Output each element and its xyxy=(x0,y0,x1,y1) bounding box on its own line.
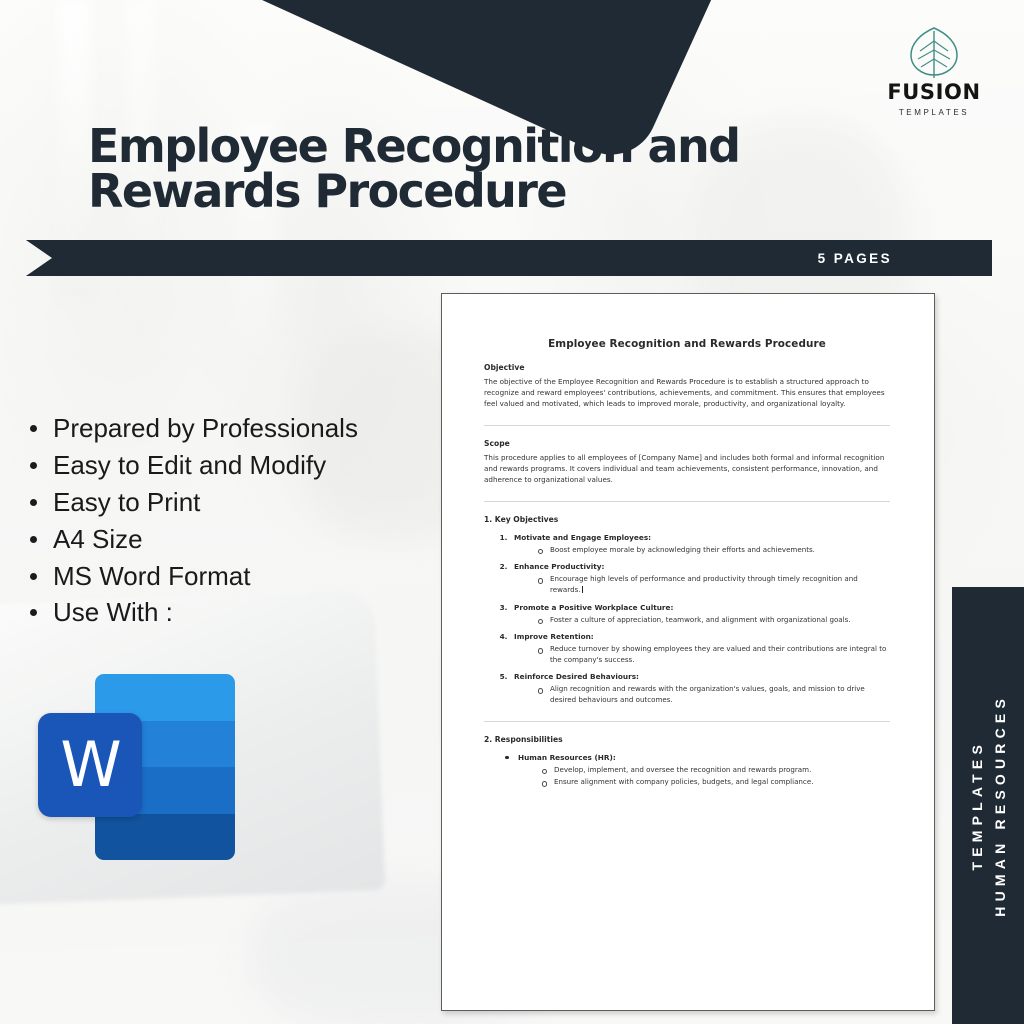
document-sub-list: Foster a culture of appreciation, teamwo… xyxy=(514,615,890,626)
document-paragraph: The objective of the Employee Recognitio… xyxy=(484,377,890,410)
divider xyxy=(484,425,890,426)
document-sub-list: Boost employee morale by acknowledging t… xyxy=(514,545,890,556)
document-section-title: 1. Key Objectives xyxy=(484,515,890,524)
list-item: Prepared by Professionals xyxy=(30,414,440,444)
word-band-4 xyxy=(95,814,235,861)
bullet-icon xyxy=(30,499,37,506)
divider xyxy=(484,501,890,502)
list-item: Reinforce Desired Behaviours: Align reco… xyxy=(510,672,890,705)
feature-label: Use With : xyxy=(53,598,173,628)
list-item: Align recognition and rewards with the o… xyxy=(536,684,890,705)
bullet-icon xyxy=(30,609,37,616)
responsibility-heading: Human Resources (HR): xyxy=(518,753,616,762)
list-item: Reduce turnover by showing employees the… xyxy=(536,644,890,665)
feature-label: A4 Size xyxy=(53,525,143,555)
word-icon-letter: W xyxy=(60,734,119,796)
list-item: Motivate and Engage Employees: Boost emp… xyxy=(510,533,890,556)
list-item: Encourage high levels of performance and… xyxy=(536,574,890,595)
list-item: Foster a culture of appreciation, teamwo… xyxy=(536,615,890,626)
poster-canvas: FUSION TEMPLATES Employee Recognition an… xyxy=(0,0,1024,1024)
document-section-title: 2. Responsibilities xyxy=(484,735,890,744)
list-item: Boost employee morale by acknowledging t… xyxy=(536,545,890,556)
list-item: A4 Size xyxy=(30,525,440,555)
pages-ribbon: 5 PAGES xyxy=(26,240,992,276)
category-line-1: HUMAN RESOURCES xyxy=(992,694,1008,917)
pages-count-label: 5 PAGES xyxy=(818,251,892,266)
bullet-icon xyxy=(30,462,37,469)
list-item: Use With : xyxy=(30,598,440,628)
bullet-icon xyxy=(30,573,37,580)
document-sub-list: Encourage high levels of performance and… xyxy=(514,574,890,595)
list-item: Easy to Print xyxy=(30,488,440,518)
leaf-icon xyxy=(872,24,996,80)
feature-label: MS Word Format xyxy=(53,562,250,592)
bullet-icon xyxy=(30,536,37,543)
objective-heading: Motivate and Engage Employees: xyxy=(514,533,651,542)
list-item: Promote a Positive Workplace Culture: Fo… xyxy=(510,603,890,626)
list-item: Enhance Productivity: Encourage high lev… xyxy=(510,562,890,595)
objective-heading: Reinforce Desired Behaviours: xyxy=(514,672,639,681)
list-item: Easy to Edit and Modify xyxy=(30,451,440,481)
document-bullet-list: Human Resources (HR): Develop, implement… xyxy=(502,753,890,788)
feature-label: Easy to Print xyxy=(53,488,200,518)
category-line-2: TEMPLATES xyxy=(969,740,985,871)
document-sub-list: Align recognition and rewards with the o… xyxy=(514,684,890,705)
list-item: MS Word Format xyxy=(30,562,440,592)
list-item: Improve Retention: Reduce turnover by sh… xyxy=(510,632,890,665)
brand-tagline: TEMPLATES xyxy=(872,108,996,117)
list-item: Ensure alignment with company policies, … xyxy=(540,777,890,788)
document-preview: Employee Recognition and Rewards Procedu… xyxy=(441,293,935,1011)
document-title: Employee Recognition and Rewards Procedu… xyxy=(484,338,890,350)
category-sidebar-columns: HUMAN RESOURCES TEMPLATES xyxy=(969,587,1008,1024)
list-item: Develop, implement, and oversee the reco… xyxy=(540,765,890,776)
feature-list: Prepared by Professionals Easy to Edit a… xyxy=(30,414,440,635)
title-line-2: Rewards Procedure xyxy=(88,164,566,218)
document-heading: Objective xyxy=(484,363,890,372)
list-item: Human Resources (HR): Develop, implement… xyxy=(502,753,890,788)
brand-logo: FUSION TEMPLATES xyxy=(872,24,996,117)
document-heading: Scope xyxy=(484,439,890,448)
category-sidebar: HUMAN RESOURCES TEMPLATES xyxy=(952,587,1024,1024)
objective-heading: Promote a Positive Workplace Culture: xyxy=(514,603,673,612)
microsoft-word-icon: W xyxy=(38,670,236,866)
document-ordered-list: Motivate and Engage Employees: Boost emp… xyxy=(510,533,890,706)
list-item-text: Encourage high levels of performance and… xyxy=(550,574,858,594)
feature-label: Prepared by Professionals xyxy=(53,414,358,444)
text-cursor xyxy=(582,586,583,593)
objective-heading: Enhance Productivity: xyxy=(514,562,604,571)
document-body: Employee Recognition and Rewards Procedu… xyxy=(442,294,934,788)
document-sub-list: Develop, implement, and oversee the reco… xyxy=(518,765,890,788)
pages-ribbon-body: 5 PAGES xyxy=(26,240,992,276)
brand-name: FUSION xyxy=(872,82,996,103)
divider xyxy=(484,721,890,722)
bullet-icon xyxy=(30,425,37,432)
word-icon-badge: W xyxy=(38,713,142,817)
feature-label: Easy to Edit and Modify xyxy=(53,451,326,481)
document-paragraph: This procedure applies to all employees … xyxy=(484,453,890,486)
document-sub-list: Reduce turnover by showing employees the… xyxy=(514,644,890,665)
objective-heading: Improve Retention: xyxy=(514,632,594,641)
page-title: Employee Recognition and Rewards Procedu… xyxy=(88,124,778,213)
